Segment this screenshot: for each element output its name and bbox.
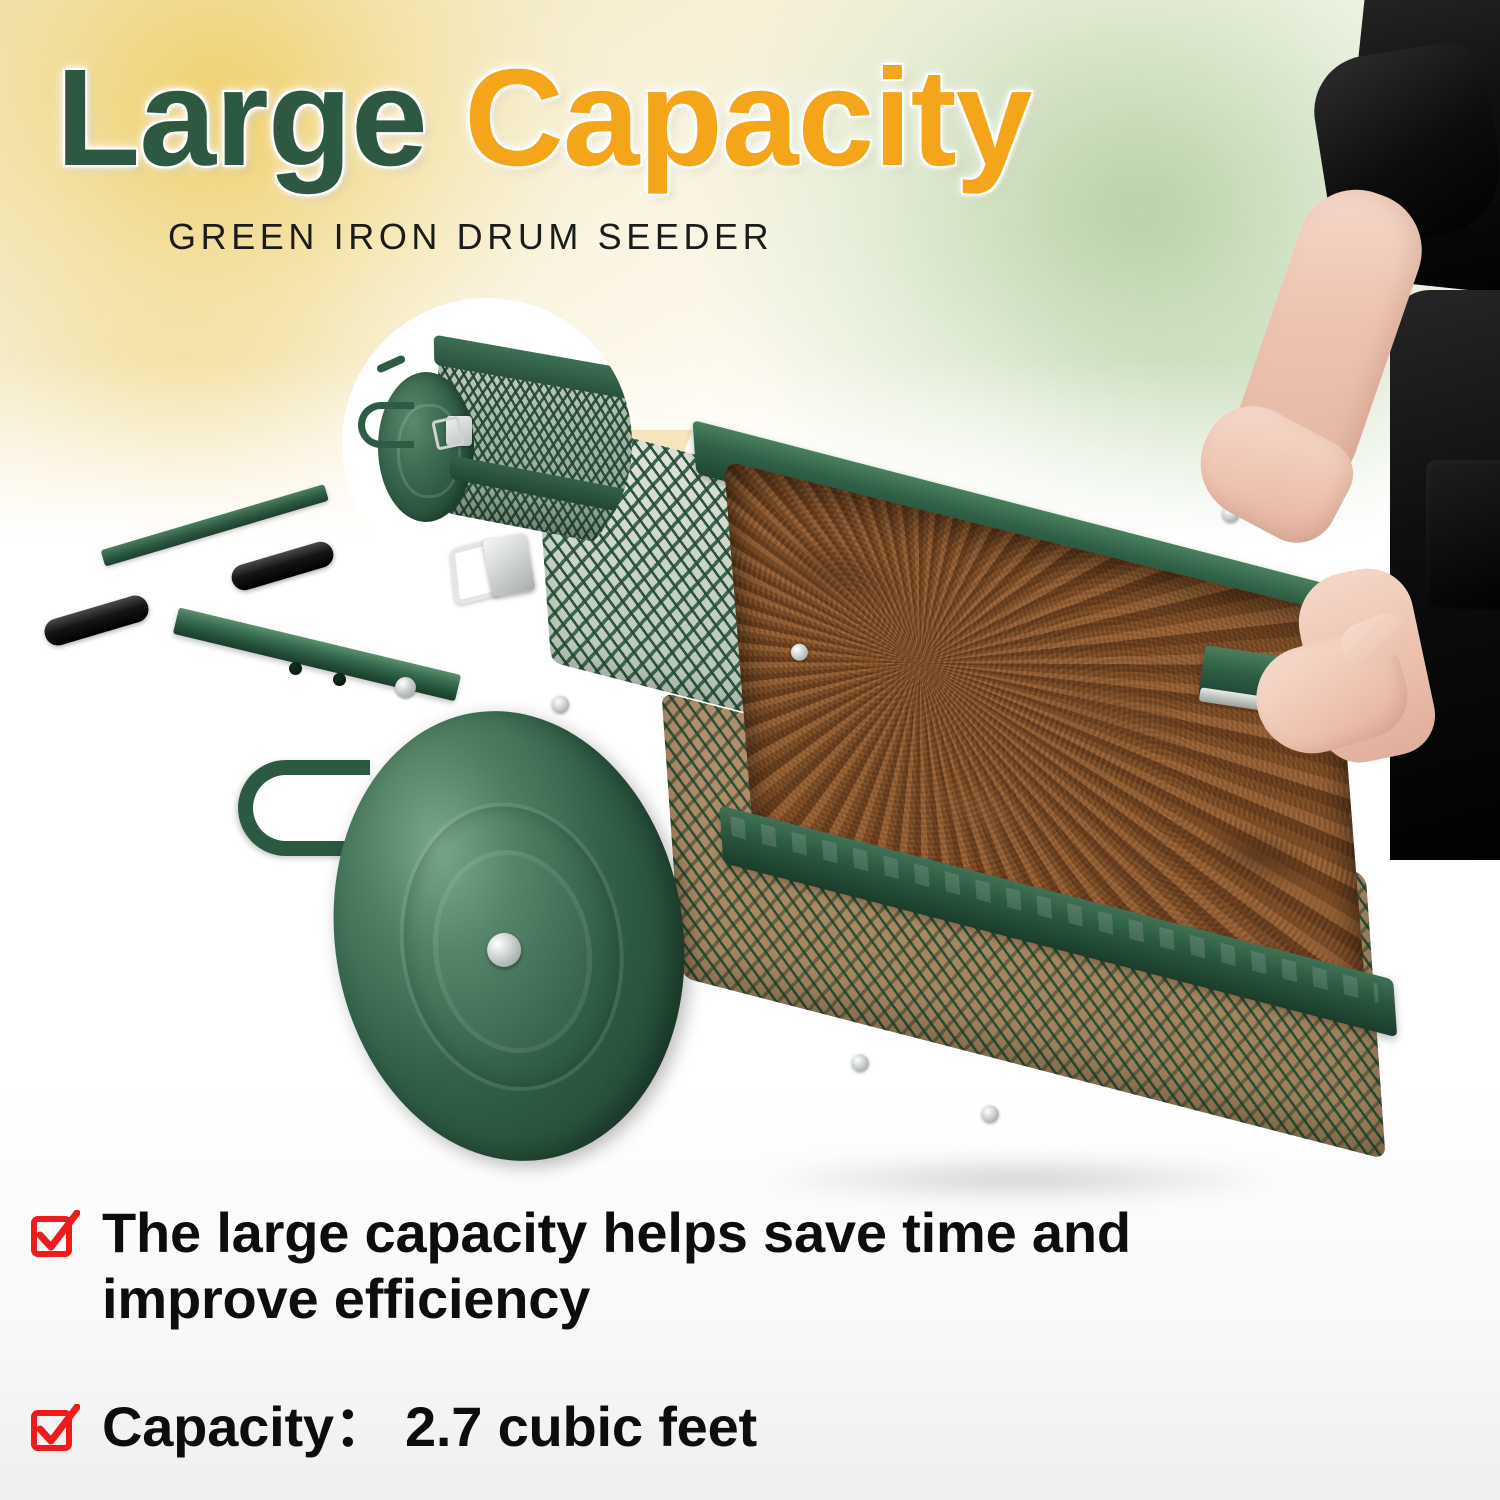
product-illustration bbox=[0, 430, 1500, 1210]
checkbox-checked-icon bbox=[30, 1404, 80, 1454]
person-pocket bbox=[1426, 460, 1500, 610]
checkbox-checked-icon bbox=[30, 1210, 80, 1260]
person-holding-spreader bbox=[1280, 0, 1500, 860]
list-item: Capacity： 2.7 cubic feet bbox=[30, 1394, 1330, 1460]
callout-side-handle bbox=[358, 402, 414, 448]
callout-cap-tab bbox=[376, 354, 407, 374]
list-item: The large capacity helps save time and i… bbox=[30, 1200, 1330, 1332]
marketing-image-canvas: Large Capacity GREEN IRON DRUM SEEDER bbox=[0, 0, 1500, 1500]
rivet bbox=[981, 1105, 999, 1123]
list-item-label: Capacity： 2.7 cubic feet bbox=[102, 1394, 757, 1460]
foam-grip-left bbox=[41, 592, 151, 648]
page-title: Large Capacity bbox=[56, 48, 1186, 189]
callout-latch-clasp-icon bbox=[446, 416, 472, 446]
rivet bbox=[851, 1054, 869, 1072]
headline-primary-word: Large bbox=[56, 41, 427, 195]
list-item-label: The large capacity helps save time and i… bbox=[102, 1200, 1282, 1332]
drum-assembly bbox=[300, 460, 1280, 1190]
page-subtitle: GREEN IRON DRUM SEEDER bbox=[168, 216, 773, 258]
headline-accent-word: Capacity bbox=[464, 41, 1031, 195]
rivet bbox=[552, 696, 569, 713]
feature-list: The large capacity helps save time and i… bbox=[30, 1200, 1330, 1494]
